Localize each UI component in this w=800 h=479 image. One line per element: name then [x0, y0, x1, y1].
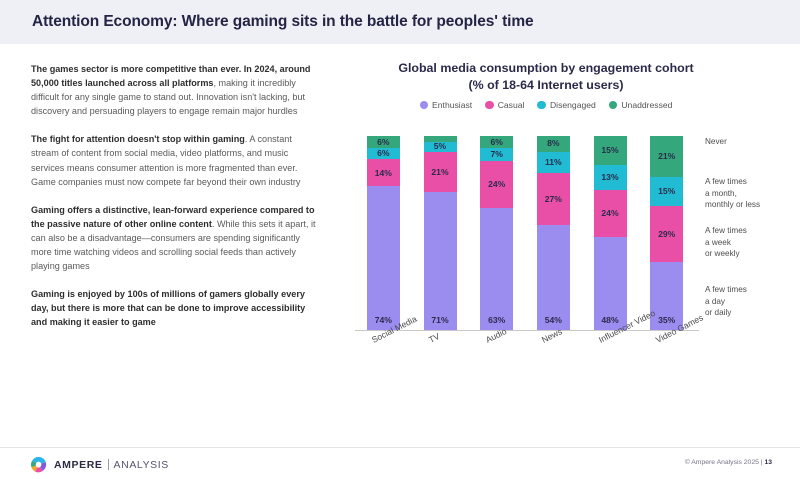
bar-segment-disengaged[interactable]: 13%	[594, 165, 627, 190]
chart-subtitle: (% of 18-64 Internet users)	[346, 77, 746, 94]
legend-item-unaddressed[interactable]: Unaddressed	[609, 100, 673, 110]
frequency-annotation: A few timesa weekor weekly	[705, 225, 747, 260]
bar-segment-disengaged[interactable]: 5%	[424, 142, 457, 152]
bar-segment-enthusiast[interactable]: 74%	[367, 186, 400, 330]
ampere-logo: AMPERE ANALYSIS	[30, 456, 169, 473]
bar-value-label: 74%	[375, 316, 392, 325]
bar-value-label: 15%	[601, 146, 618, 155]
chart-legend: EnthusiastCasualDisengagedUnaddressed	[346, 100, 746, 110]
bar-value-label: 15%	[658, 187, 675, 196]
frequency-annotation-line: A few times	[705, 284, 747, 296]
bar-slot: 6%6%14%74%	[355, 136, 412, 330]
frequency-annotation-line: Never	[705, 136, 727, 148]
bar-segment-enthusiast[interactable]: 54%	[537, 225, 570, 330]
bar-segment-unaddressed[interactable]: 6%	[480, 136, 513, 148]
bar-value-label: 6%	[377, 149, 389, 158]
legend-swatch-icon	[485, 101, 494, 110]
bar-value-label: 24%	[601, 209, 618, 218]
bar-value-label: 6%	[377, 138, 389, 147]
legend-label: Casual	[498, 100, 525, 110]
bar-value-label: 6%	[490, 138, 502, 147]
legend-swatch-icon	[537, 101, 546, 110]
bar-segment-enthusiast[interactable]: 48%	[594, 237, 627, 330]
bar-value-label: 48%	[601, 316, 618, 325]
frequency-annotation-line: a day	[705, 296, 747, 308]
legend-label: Enthusiast	[432, 100, 472, 110]
bar-value-label: 27%	[545, 195, 562, 204]
bar-segment-unaddressed[interactable]: 8%	[537, 136, 570, 152]
bar-segment-casual[interactable]: 24%	[480, 161, 513, 208]
frequency-annotation-line: or daily	[705, 307, 747, 319]
narrative-paragraph: Gaming offers a distinctive, lean-forwar…	[31, 203, 319, 273]
bar-slot: 8%11%27%54%	[525, 136, 582, 330]
legend-item-casual[interactable]: Casual	[485, 100, 524, 110]
stacked-bar[interactable]: 21%15%29%35%	[650, 136, 683, 330]
stacked-bar[interactable]: 6%6%14%74%	[367, 136, 400, 330]
bar-slot: 5%21%71%	[412, 136, 469, 330]
bar-segment-unaddressed[interactable]: 6%	[367, 136, 400, 148]
bar-value-label: 35%	[658, 316, 675, 325]
bar-segment-casual[interactable]: 27%	[537, 173, 570, 225]
chart-container: Global media consumption by engagement c…	[340, 60, 800, 410]
bar-segment-enthusiast[interactable]: 71%	[424, 192, 457, 330]
frequency-annotation-line: A few times	[705, 176, 760, 188]
stacked-bar-group: 6%6%14%74%5%21%71%6%7%24%63%8%11%27%54%1…	[355, 136, 695, 330]
stacked-bar[interactable]: 5%21%71%	[424, 136, 457, 330]
slide-header: Attention Economy: Where gaming sits in …	[0, 0, 800, 44]
bar-segment-casual[interactable]: 29%	[650, 206, 683, 262]
frequency-annotation-line: monthly or less	[705, 199, 760, 211]
bar-segment-disengaged[interactable]: 6%	[367, 148, 400, 160]
bar-segment-casual[interactable]: 21%	[424, 152, 457, 193]
slide-footer: AMPERE ANALYSIS © Ampere Analysis 2025 |…	[0, 447, 800, 479]
x-axis-tick-label: TV	[427, 331, 441, 345]
bar-slot: 6%7%24%63%	[468, 136, 525, 330]
legend-item-disengaged[interactable]: Disengaged	[537, 100, 595, 110]
frequency-annotation-line: or weekly	[705, 248, 747, 260]
bar-value-label: 24%	[488, 180, 505, 189]
bar-segment-disengaged[interactable]: 7%	[480, 148, 513, 162]
bar-segment-unaddressed[interactable]: 15%	[594, 136, 627, 165]
frequency-annotation-line: a week	[705, 237, 747, 249]
legend-item-enthusiast[interactable]: Enthusiast	[420, 100, 473, 110]
legend-label: Unaddressed	[621, 100, 672, 110]
chart-plot-area: 6%6%14%74%5%21%71%6%7%24%63%8%11%27%54%1…	[355, 136, 695, 332]
stacked-bar[interactable]: 8%11%27%54%	[537, 136, 570, 330]
logo-brand: AMPERE	[54, 459, 103, 471]
page-number: 13	[764, 459, 772, 466]
bar-value-label: 54%	[545, 316, 562, 325]
bar-value-label: 14%	[375, 169, 392, 178]
paragraph-lead: The fight for attention doesn't stop wit…	[31, 134, 245, 144]
bar-segment-enthusiast[interactable]: 35%	[650, 262, 683, 330]
page-title: Attention Economy: Where gaming sits in …	[32, 13, 534, 31]
bar-value-label: 29%	[658, 230, 675, 239]
bar-slot: 15%13%24%48%	[582, 136, 639, 330]
chart-title: Global media consumption by engagement c…	[346, 60, 746, 77]
frequency-annotation: Never	[705, 136, 727, 148]
narrative-paragraph: The games sector is more competitive tha…	[31, 62, 319, 118]
bar-value-label: 5%	[434, 142, 446, 151]
x-axis-line	[355, 330, 699, 331]
copyright-text: © Ampere Analysis 2025 | 13	[685, 459, 772, 466]
bar-slot: 21%15%29%35%	[638, 136, 695, 330]
legend-swatch-icon	[420, 101, 429, 110]
bar-value-label: 21%	[658, 152, 675, 161]
bar-segment-casual[interactable]: 14%	[367, 159, 400, 186]
paragraph-lead: Gaming is enjoyed by 100s of millions of…	[31, 289, 305, 327]
frequency-annotation: A few timesa dayor daily	[705, 284, 747, 319]
bar-value-label: 7%	[490, 150, 502, 159]
logo-sub: ANALYSIS	[114, 459, 169, 471]
legend-swatch-icon	[609, 101, 618, 110]
logo-divider	[108, 459, 109, 470]
bar-value-label: 11%	[545, 158, 562, 167]
narrative-paragraph: Gaming is enjoyed by 100s of millions of…	[31, 287, 319, 329]
bar-value-label: 13%	[601, 173, 618, 182]
frequency-annotation-line: a month,	[705, 188, 760, 200]
bar-value-label: 21%	[431, 168, 448, 177]
frequency-annotation: A few timesa month,monthly or less	[705, 176, 760, 211]
narrative-column: The games sector is more competitive tha…	[31, 62, 319, 344]
bar-value-label: 71%	[431, 316, 448, 325]
copyright-label: © Ampere Analysis 2025 |	[685, 459, 765, 466]
bar-value-label: 63%	[488, 316, 505, 325]
frequency-annotation-line: A few times	[705, 225, 747, 237]
stacked-bar[interactable]: 6%7%24%63%	[480, 136, 513, 330]
bar-segment-casual[interactable]: 24%	[594, 190, 627, 237]
bar-value-label: 8%	[547, 139, 559, 148]
bar-segment-unaddressed[interactable]: 21%	[650, 136, 683, 177]
bar-segment-enthusiast[interactable]: 63%	[480, 208, 513, 330]
ampere-donut-icon	[30, 456, 47, 473]
bar-segment-disengaged[interactable]: 15%	[650, 177, 683, 206]
logo-wordmark: AMPERE ANALYSIS	[54, 459, 169, 471]
slide-root: Attention Economy: Where gaming sits in …	[0, 0, 800, 479]
bar-segment-disengaged[interactable]: 11%	[537, 152, 570, 173]
stacked-bar[interactable]: 15%13%24%48%	[594, 136, 627, 330]
narrative-paragraph: The fight for attention doesn't stop wit…	[31, 132, 319, 188]
legend-label: Disengaged	[550, 100, 596, 110]
